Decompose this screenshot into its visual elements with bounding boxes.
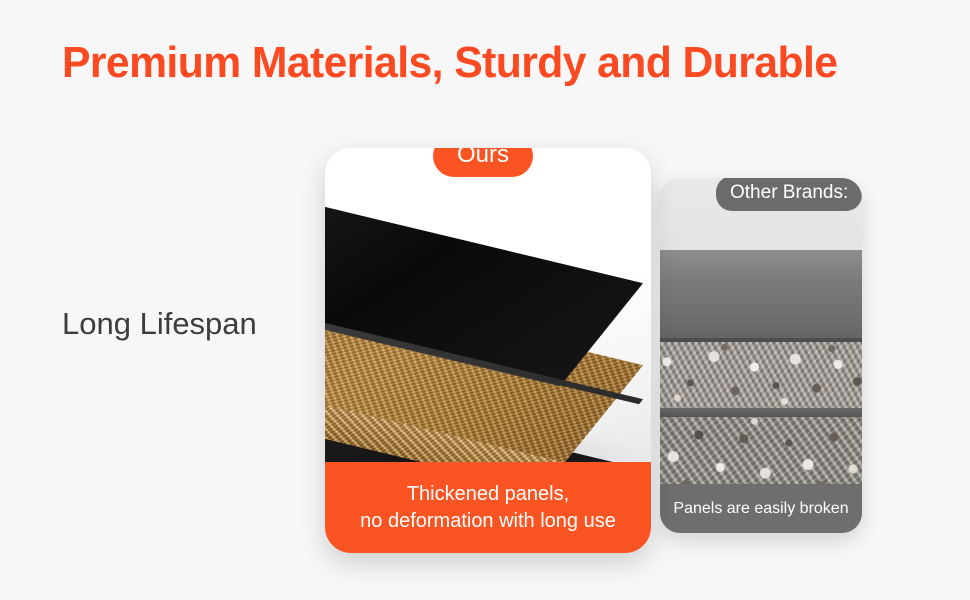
other-brands-badge: Other Brands:: [716, 178, 862, 211]
other-brands-card: Other Brands: Panels are easily broken: [660, 178, 862, 533]
ours-caption-line1: Thickened panels,: [407, 481, 569, 507]
ours-card: Ours Thickened panels, no deformation wi…: [325, 148, 651, 553]
ours-caption-line2: no deformation with long use: [360, 508, 616, 534]
ours-caption: Thickened panels, no deformation with lo…: [325, 462, 651, 553]
ours-panel-illustration: [325, 148, 651, 462]
panel-seam: [660, 408, 862, 417]
other-brands-photo: [660, 178, 862, 533]
ours-badge: Ours: [433, 148, 533, 177]
gray-slab-layer: [660, 250, 862, 342]
comparison-section: Other Brands: Panels are easily broken O…: [0, 0, 970, 600]
particleboard-band-lower: [660, 417, 862, 489]
other-brands-caption: Panels are easily broken: [660, 484, 862, 533]
particleboard-band-upper: [660, 342, 862, 408]
